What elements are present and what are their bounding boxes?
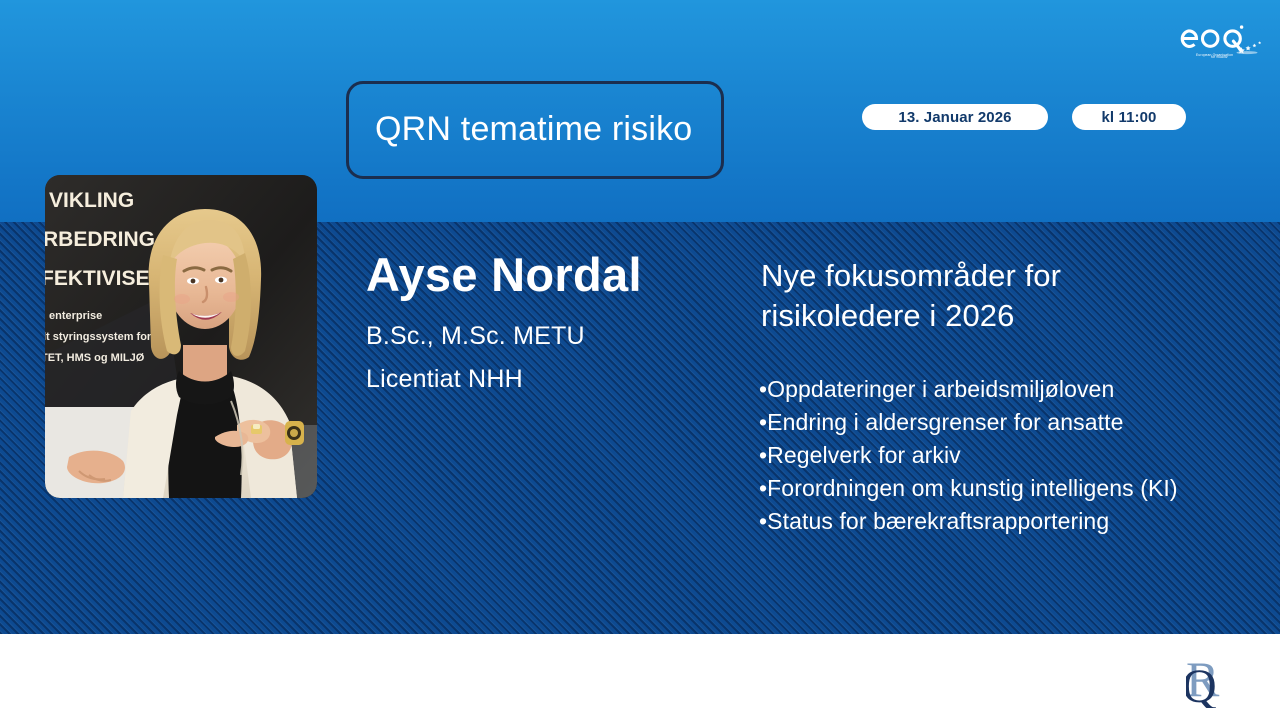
list-item: •Forordningen om kunstig intelligens (KI… — [759, 472, 1195, 505]
date-badge: 13. Januar 2026 — [862, 104, 1048, 130]
banner-text-line4: enterprise — [49, 310, 102, 322]
topic-heading: Nye fokusområder for risikoledere i 2026 — [761, 256, 1191, 335]
list-item: •Oppdateringer i arbeidsmiljøloven — [759, 373, 1195, 406]
slide-title-box: QRN tematime risiko — [346, 81, 724, 179]
footer-white-band — [0, 634, 1280, 720]
presentation-slide: European Organisation for Quality QRN te… — [0, 0, 1280, 720]
speaker-photo: VIKLING RBEDRING FEKTIVISER enterprise l… — [45, 175, 317, 498]
list-item: •Status for bærekraftsrapportering — [759, 505, 1195, 538]
qr-monogram-logo: R Q — [1186, 650, 1254, 708]
banner-text-line6: TET, HMS og MILJØ — [45, 352, 145, 364]
eoq-logo: European Organisation for Quality — [1178, 16, 1268, 58]
monogram-letter-q: Q — [1186, 660, 1217, 708]
banner-text-line2: RBEDRING — [45, 228, 155, 251]
banner-text-line5: lt styringssystem for — [45, 331, 152, 343]
time-badge: kl 11:00 — [1072, 104, 1186, 130]
list-item: •Regelverk for arkiv — [759, 439, 1195, 472]
banner-text-line1: VIKLING — [49, 189, 134, 212]
topic-heading-line-2: risikoledere i 2026 — [761, 296, 1191, 336]
slide-title: QRN tematime risiko — [375, 111, 692, 148]
eoq-tagline-line2: for Quality — [1211, 55, 1228, 58]
speaker-name: Ayse Nordal — [366, 250, 642, 299]
topic-heading-line-1: Nye fokusområder for — [761, 256, 1191, 296]
banner-text-line3: FEKTIVISER — [45, 267, 165, 290]
speaker-credential-line-1: B.Sc., M.Sc. METU — [366, 322, 585, 351]
speaker-credential-line-2: Licentiat NHH — [366, 365, 523, 394]
topic-bullet-list: •Oppdateringer i arbeidsmiljøloven •Endr… — [759, 373, 1195, 537]
list-item: •Endring i aldersgrenser for ansatte — [759, 406, 1195, 439]
